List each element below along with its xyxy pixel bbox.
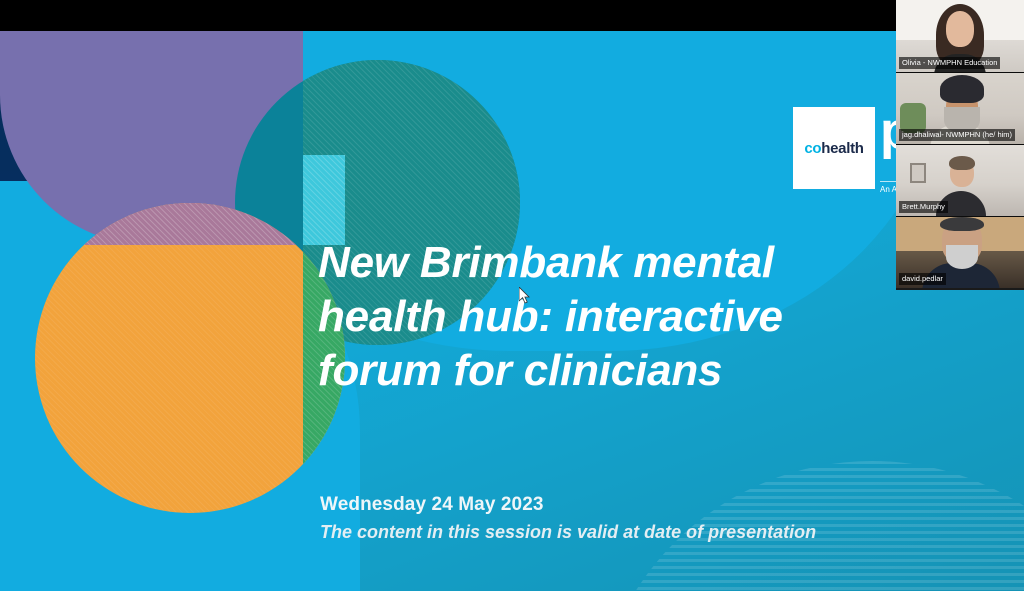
participant-hair: [940, 217, 984, 231]
video-tile[interactable]: Brett.Murphy: [896, 144, 1024, 216]
orange-circle-shape: [35, 203, 345, 513]
slide-title: New Brimbank mental health hub: interact…: [318, 236, 848, 398]
participant-turban: [940, 75, 984, 103]
slide-title-line-2: health hub: interactive: [318, 290, 848, 344]
participant-face: [946, 11, 974, 47]
video-participant-panel[interactable]: Olivia - NWMPHN Education jag.dhaliwal- …: [896, 0, 1024, 290]
slide-validity-note: The content in this session is valid at …: [320, 522, 816, 543]
slide-title-line-3: forum for clinicians: [318, 344, 848, 398]
presentation-slide: New Brimbank mental health hub: interact…: [0, 31, 1024, 591]
participant-beard: [946, 245, 978, 269]
slide-date: Wednesday 24 May 2023: [320, 494, 544, 516]
screen: New Brimbank mental health hub: interact…: [0, 0, 1024, 591]
video-tile[interactable]: Olivia - NWMPHN Education: [896, 0, 1024, 72]
cohealth-logo-health: health: [821, 140, 863, 157]
video-background: [910, 163, 926, 183]
cohealth-wordmark: cohealth: [804, 140, 863, 157]
letterbox-top: [0, 0, 1024, 31]
participant-name-label: Brett.Murphy: [899, 201, 948, 213]
mauve-overlap-shape: [35, 203, 345, 245]
participant-hair: [949, 156, 975, 170]
cohealth-logo: cohealth: [793, 107, 875, 189]
participant-name-label: Olivia - NWMPHN Education: [899, 57, 1000, 69]
cohealth-logo-co: co: [804, 140, 821, 157]
video-tile[interactable]: jag.dhaliwal- NWMPHN (he/ him): [896, 72, 1024, 144]
participant-name-label: david.pedlar: [899, 273, 946, 285]
video-tile[interactable]: david.pedlar: [896, 216, 1024, 288]
participant-name-label: jag.dhaliwal- NWMPHN (he/ him): [899, 129, 1015, 141]
slide-title-line-1: New Brimbank mental: [318, 236, 848, 290]
